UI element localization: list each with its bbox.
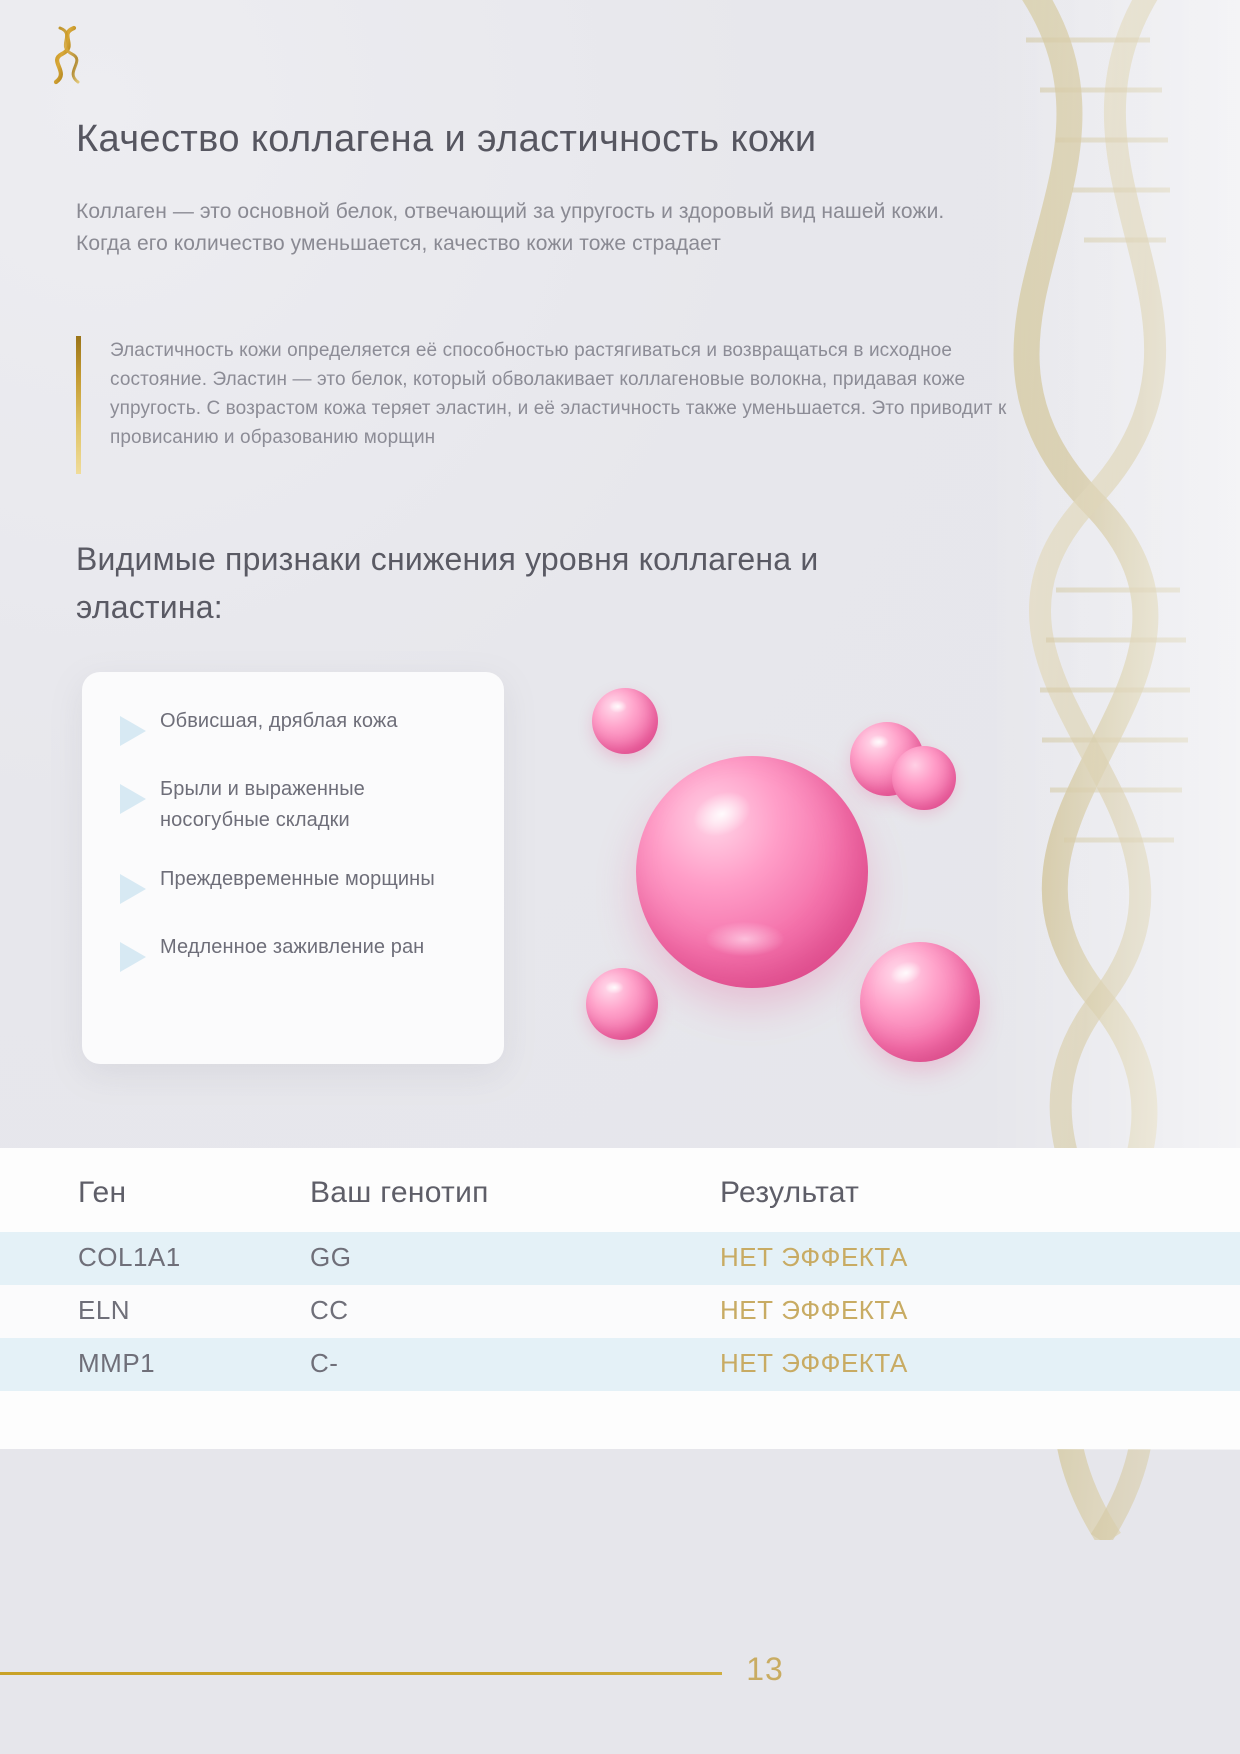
list-item: Обвисшая, дряблая кожа	[104, 706, 478, 746]
triangle-bullet-icon	[120, 874, 146, 904]
page-title: Качество коллагена и эластичность кожи	[76, 118, 1076, 161]
cell-result: НЕТ ЭФФЕКТА	[720, 1338, 1240, 1391]
bubble-small-top-left	[592, 688, 658, 754]
cell-gene: COL1A1	[0, 1232, 310, 1285]
pink-collagen-bubbles-illustration	[540, 660, 1060, 1110]
cell-genotype: GG	[310, 1232, 720, 1285]
triangle-bullet-icon	[120, 784, 146, 814]
list-item-label: Медленное заживление ран	[160, 932, 424, 963]
triangle-bullet-icon	[120, 716, 146, 746]
bubble-medium-bottom-right	[860, 942, 980, 1062]
bubble-small-top-right-b	[892, 746, 956, 810]
page-footer: 13	[0, 1645, 1240, 1705]
table-row: MMP1 C- НЕТ ЭФФЕКТА	[0, 1338, 1240, 1391]
dna-helix-icon	[40, 24, 96, 86]
page-number: 13	[735, 1651, 795, 1688]
cell-gene: MMP1	[0, 1338, 310, 1391]
section-heading: Видимые признаки снижения уровня коллаге…	[76, 535, 896, 631]
column-header-genotype: Ваш генотип	[310, 1148, 720, 1232]
column-header-gene: Ген	[0, 1148, 310, 1232]
bubble-small-bottom-left	[586, 968, 658, 1040]
table-bottom-spacer	[0, 1391, 1240, 1449]
bubble-main	[636, 756, 868, 988]
triangle-bullet-icon	[120, 942, 146, 972]
list-item-label: Брыли и выраженные носогубные складки	[160, 774, 460, 836]
table-header-row: Ген Ваш генотип Результат	[0, 1148, 1240, 1232]
quote-block: Эластичность кожи определяется её способ…	[76, 336, 1016, 452]
cell-result: НЕТ ЭФФЕКТА	[720, 1232, 1240, 1285]
list-item: Брыли и выраженные носогубные складки	[104, 774, 478, 836]
list-item-label: Обвисшая, дряблая кожа	[160, 706, 398, 737]
column-header-result: Результат	[720, 1148, 1240, 1232]
genotype-results-table: Ген Ваш генотип Результат COL1A1 GG НЕТ …	[0, 1148, 1240, 1449]
intro-paragraph: Коллаген — это основной белок, отвечающи…	[76, 196, 976, 260]
list-item: Преждевременные морщины	[104, 864, 478, 904]
cell-genotype: CC	[310, 1285, 720, 1338]
list-item: Медленное заживление ран	[104, 932, 478, 972]
table-row: COL1A1 GG НЕТ ЭФФЕКТА	[0, 1232, 1240, 1285]
list-item-label: Преждевременные морщины	[160, 864, 435, 895]
report-page: Качество коллагена и эластичность кожи К…	[0, 0, 1240, 1754]
footer-rule	[0, 1672, 722, 1675]
visible-signs-card: Обвисшая, дряблая кожа Брыли и выраженны…	[82, 672, 504, 1064]
bubble-small-top-right-a	[850, 722, 924, 796]
table-row: ELN CC НЕТ ЭФФЕКТА	[0, 1285, 1240, 1338]
cell-result: НЕТ ЭФФЕКТА	[720, 1285, 1240, 1338]
cell-gene: ELN	[0, 1285, 310, 1338]
cell-genotype: C-	[310, 1338, 720, 1391]
quote-text: Эластичность кожи определяется её способ…	[110, 336, 1016, 452]
